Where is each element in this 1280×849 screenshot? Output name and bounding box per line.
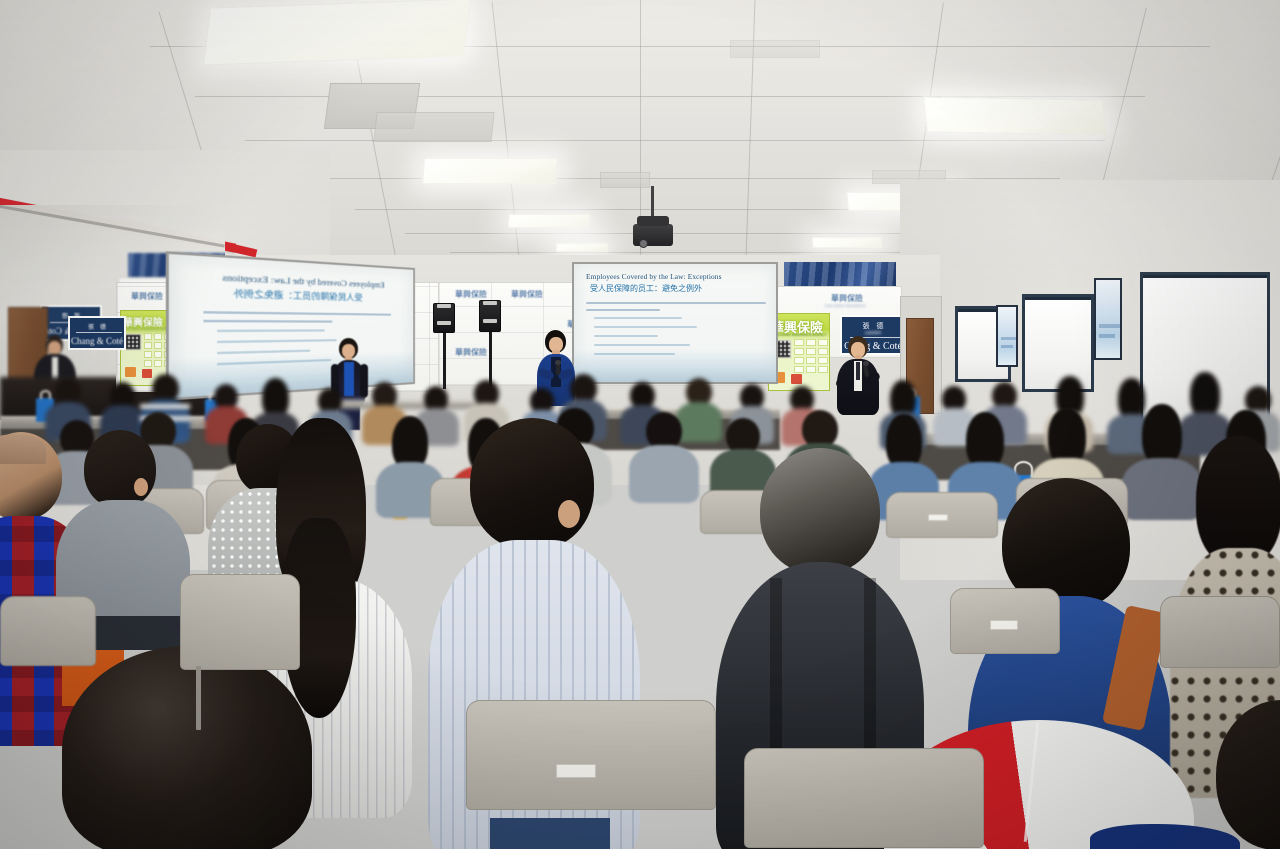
projector-lens-icon (639, 239, 648, 248)
chair-label (556, 764, 596, 778)
ceiling-vent (600, 172, 650, 188)
pa-speaker-right (479, 300, 501, 332)
chair-label (990, 620, 1018, 630)
ceiling-vent (730, 40, 820, 58)
wall-poster-2 (1094, 278, 1122, 360)
seminar-table (330, 400, 490, 409)
wall-poster-1 (996, 305, 1018, 367)
projection-screen-center: Employees Covered by the Law: Exceptions… (572, 262, 778, 384)
ceiling-light-panel (508, 214, 591, 228)
photo-canvas: 華興保險 華興保險 華興保險 張 德 Chang & Coté (0, 0, 1280, 849)
ceiling-vent (373, 112, 494, 142)
baseball-cap-brim (1090, 824, 1240, 849)
pa-speaker-left (433, 303, 455, 333)
folding-chair (744, 748, 984, 848)
law-firm-sign-left: 張 德 Chang & Coté (68, 316, 126, 350)
ceiling-light-panel (422, 158, 558, 184)
folding-chair (0, 596, 96, 666)
projection-screen-left-reflection: Employees Covered by the Law: Exceptions… (166, 251, 415, 401)
folding-chair (466, 700, 716, 810)
folding-chair (180, 574, 300, 670)
ceiling-light-panel (556, 243, 608, 252)
folding-chair (1160, 596, 1280, 668)
qr-code-icon (125, 334, 141, 350)
ceiling-light-panel (923, 96, 1107, 135)
window-shade-mid[interactable] (1022, 294, 1094, 392)
ceiling-light-panel (812, 237, 883, 248)
ceiling-projector-mount (637, 216, 669, 226)
ceiling-light-panel (203, 0, 471, 66)
